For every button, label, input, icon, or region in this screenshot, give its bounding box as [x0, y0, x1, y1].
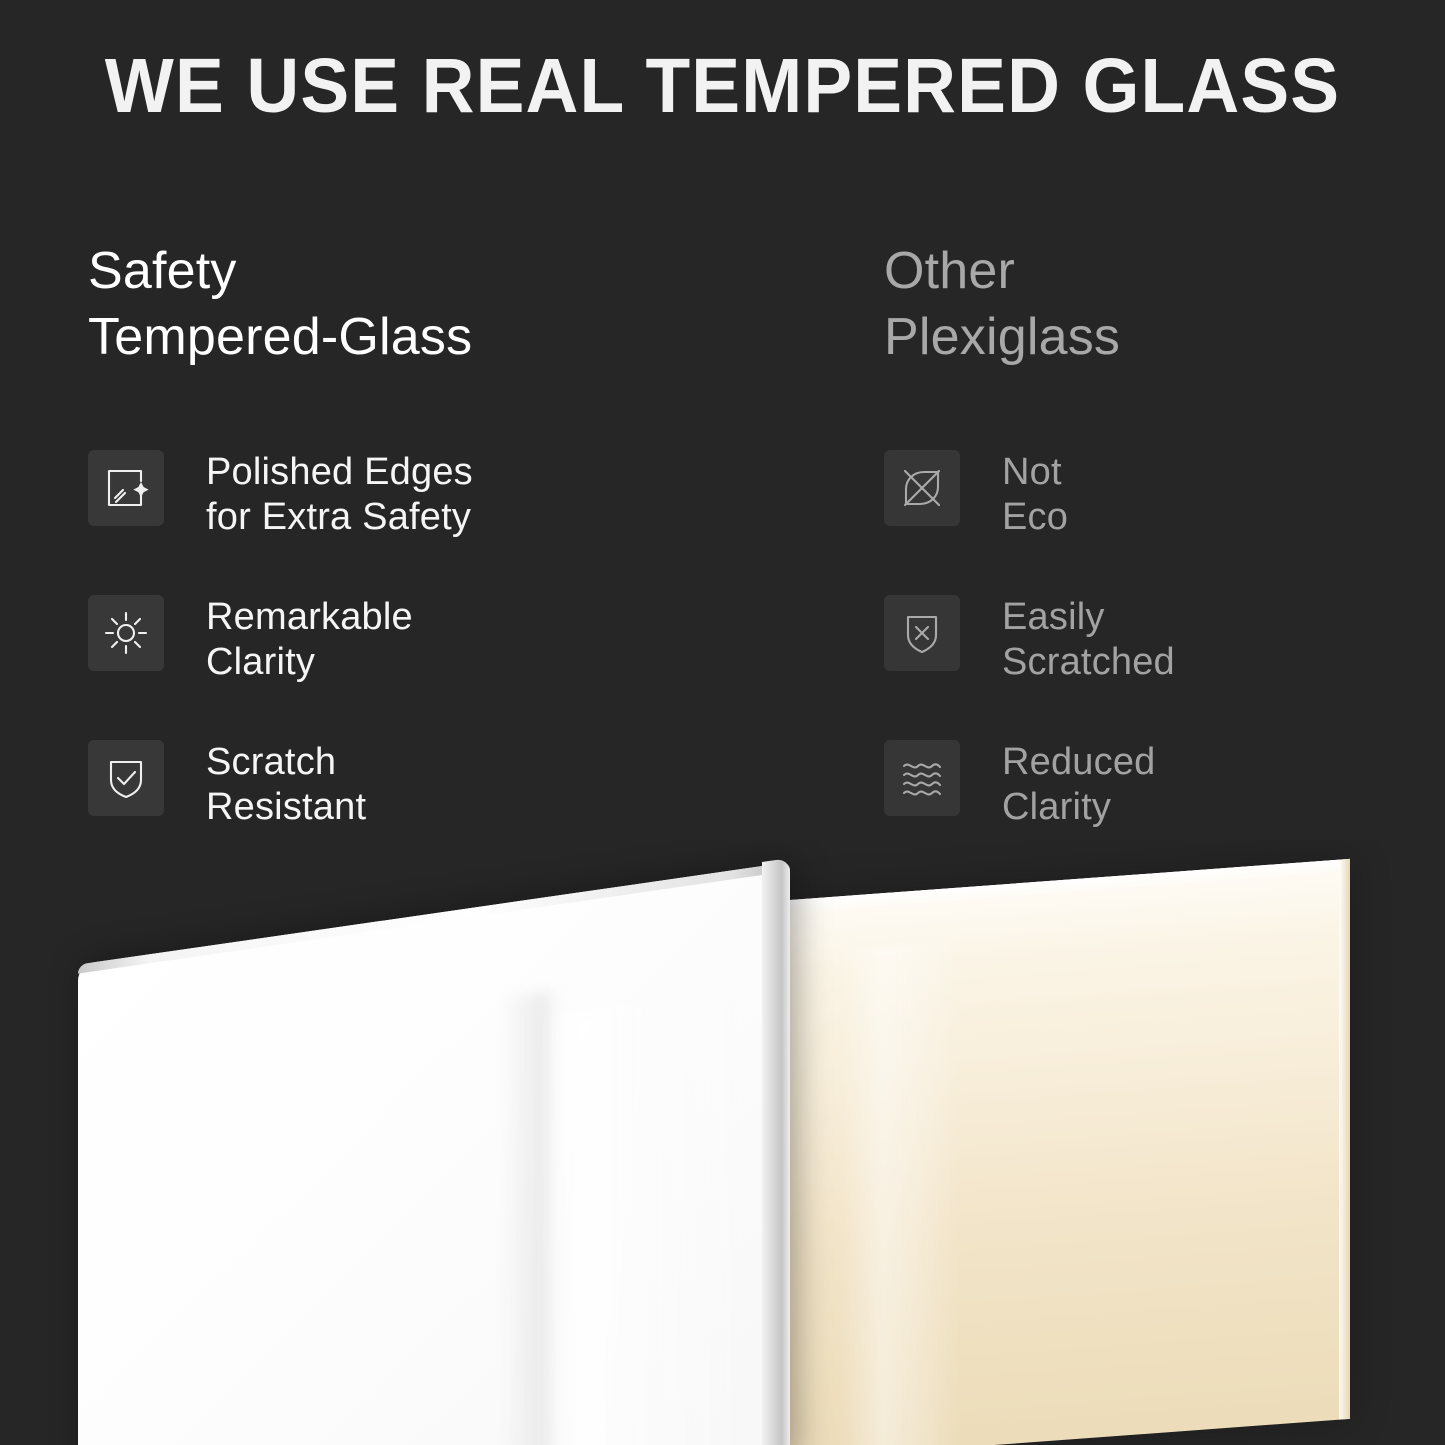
- glass-panel-illustration: [0, 840, 1445, 1445]
- tempered-glass-reflection: [545, 990, 745, 1445]
- feature-list-plexiglass: Not Eco Easily Scratched: [884, 444, 1175, 879]
- feature-row-polished-edges: Polished Edges for Extra Safety: [88, 444, 473, 589]
- column-heading-safety: Safety Tempered-Glass: [88, 238, 788, 370]
- plexiglass-reflection: [840, 941, 960, 1445]
- feature-row-not-eco: Not Eco: [884, 444, 1175, 589]
- column-other-plexiglass: Other Plexiglass Not Eco: [884, 238, 1424, 370]
- feature-row-remarkable-clarity: Remarkable Clarity: [88, 589, 473, 734]
- feature-row-easily-scratched: Easily Scratched: [884, 589, 1175, 734]
- feature-label-remarkable-clarity: Remarkable Clarity: [206, 589, 413, 685]
- feature-label-reduced-clarity: Reduced Clarity: [1002, 734, 1156, 830]
- feature-list-safety: Polished Edges for Extra Safety Remarkab…: [88, 444, 473, 879]
- feature-label-easily-scratched: Easily Scratched: [1002, 589, 1175, 685]
- wavy-lines-icon: [884, 740, 960, 816]
- column-heading-other: Other Plexiglass: [884, 238, 1424, 370]
- sun-icon: [88, 595, 164, 671]
- tempered-glass-edge: [762, 858, 790, 1445]
- shield-x-icon: [884, 595, 960, 671]
- leaf-slashed-icon: [884, 450, 960, 526]
- comparison-infographic: WE USE REAL TEMPERED GLASS Safety Temper…: [0, 0, 1445, 1445]
- shield-check-icon: [88, 740, 164, 816]
- feature-label-not-eco: Not Eco: [1002, 444, 1068, 540]
- column-safety-tempered-glass: Safety Tempered-Glass Polished Edges for…: [88, 238, 788, 370]
- polished-glass-pane-sparkle-icon: [88, 450, 164, 526]
- feature-label-polished-edges: Polished Edges for Extra Safety: [206, 444, 473, 540]
- page-title: WE USE REAL TEMPERED GLASS: [36, 42, 1409, 131]
- feature-label-scratch-resistant: Scratch Resistant: [206, 734, 366, 830]
